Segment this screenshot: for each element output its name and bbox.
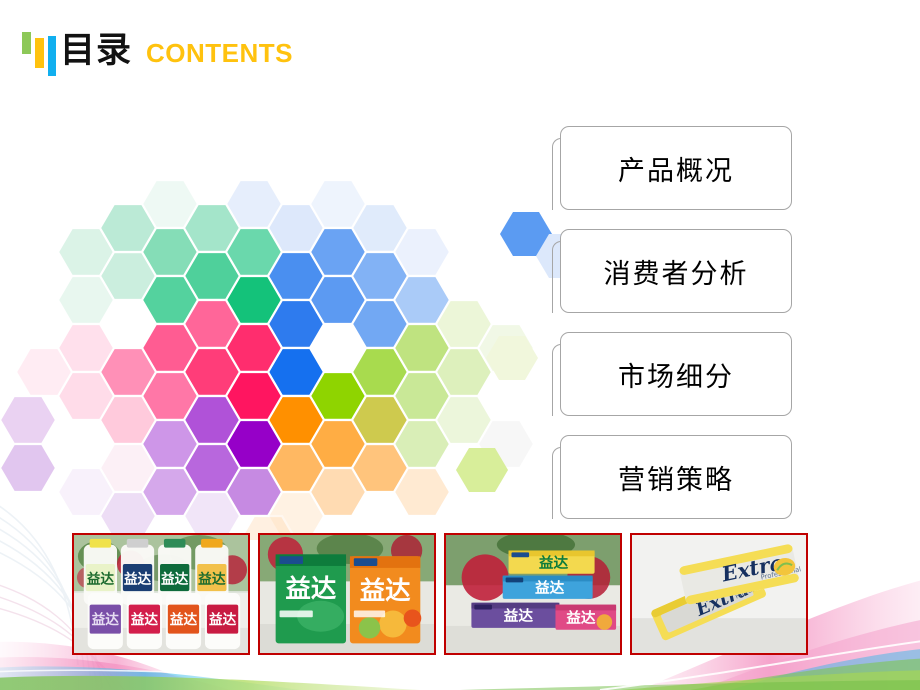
photo-extra-pack[interactable]: Extra Professional Extra Professional [630,533,808,655]
menu-item-label: 消费者分析 [604,252,749,291]
svg-text:益达: 益达 [87,570,115,587]
svg-text:益达: 益达 [92,611,120,628]
menu-hexagon-accents [440,190,570,520]
menu-item-market-segmentation[interactable]: 市场细分 [560,332,792,416]
menu-item-label: 营销策略 [618,458,734,497]
svg-text:益达: 益达 [170,611,198,628]
logo-bar-green-icon [22,32,31,54]
menu-item-label: 产品概况 [618,149,734,188]
logo-bar-yellow-icon [35,38,44,68]
photo-bottles[interactable]: 益达 益达 益达 益达 [72,533,250,655]
svg-text:益达: 益达 [198,570,226,587]
menu-item-consumer-analysis[interactable]: 消费者分析 [560,229,792,313]
page-title-english: CONTENTS [146,30,293,76]
page-title-chinese: 目录 [60,28,132,74]
svg-text:益达: 益达 [504,607,534,625]
svg-text:益达: 益达 [566,609,596,627]
svg-text:益达: 益达 [360,576,412,605]
menu-item-label: 市场细分 [618,355,734,394]
svg-text:益达: 益达 [209,611,237,628]
slide-root: 目录 CONTENTS [0,0,920,690]
hex-accent-green-light-icon [456,448,508,492]
svg-text:益达: 益达 [161,570,189,587]
product-photo-strip: 益达 益达 益达 益达 [72,533,808,655]
svg-text:益达: 益达 [539,554,569,572]
menu-item-product-overview[interactable]: 产品概况 [560,126,792,210]
svg-text:益达: 益达 [131,611,159,628]
page-title: 目录 CONTENTS [60,28,293,74]
svg-text:益达: 益达 [535,579,565,597]
menu-item-marketing-strategy[interactable]: 营销策略 [560,435,792,519]
slide-header: 目录 CONTENTS [0,0,920,100]
photo-boxes-mint[interactable]: 益达 益达 [258,533,436,655]
hex-accent-lime-pale-icon [486,336,538,380]
three-bar-logo [22,30,56,74]
contents-menu: 产品概况 消费者分析 市场细分 营销策略 [552,126,792,520]
svg-text:益达: 益达 [124,570,152,587]
photo-boxes-stack[interactable]: 益达 益达 益达 [444,533,622,655]
logo-bar-blue-icon [48,36,56,76]
svg-text:益达: 益达 [285,574,337,603]
